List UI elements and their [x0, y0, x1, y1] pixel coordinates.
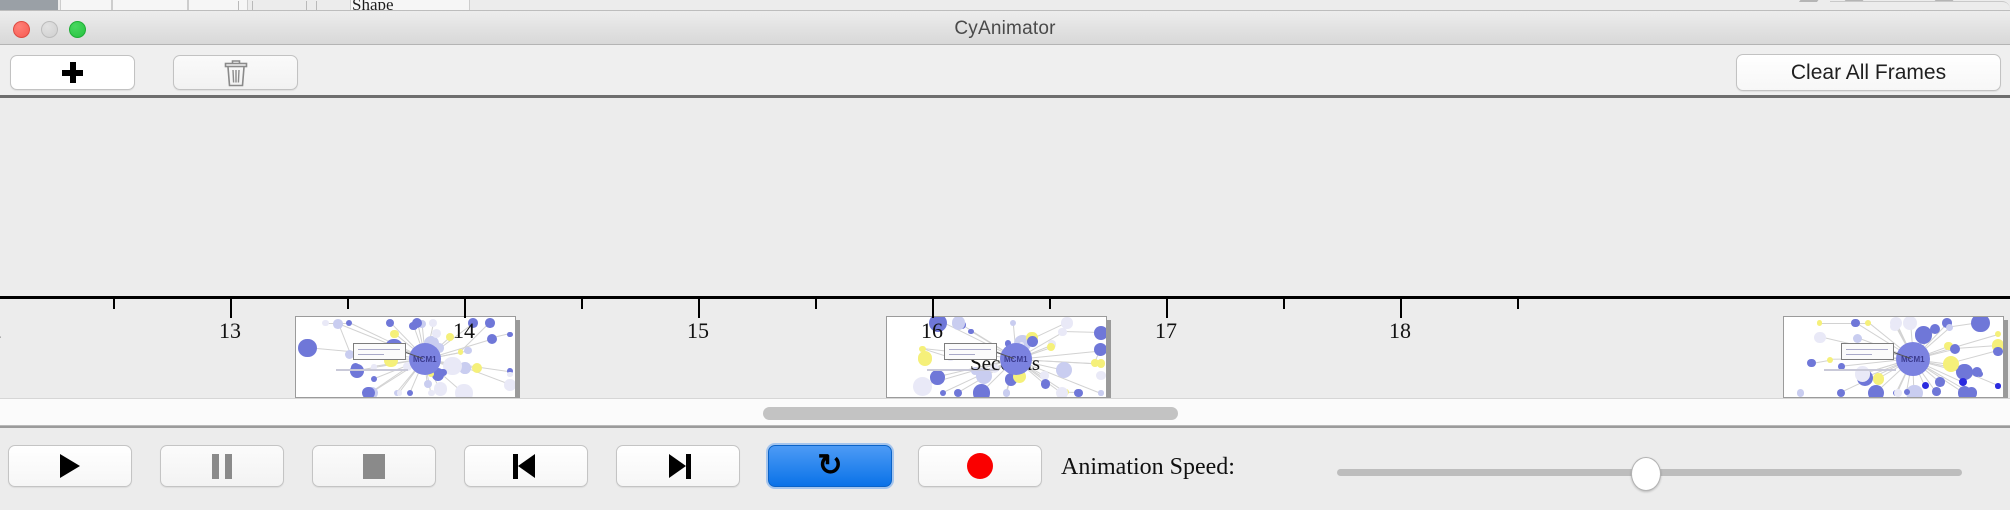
axis-tick-major: [932, 299, 934, 318]
network-node: [1797, 389, 1804, 396]
play-button[interactable]: [8, 445, 132, 487]
network-node: [1891, 319, 1899, 327]
axis-tick-minor: [1517, 299, 1519, 309]
network-node: [1995, 331, 2001, 337]
cyanimator-window: CyAnimator Clear All Frames MCM1MCM: [0, 10, 2010, 510]
network-node: [913, 377, 932, 396]
network-node: [322, 320, 329, 327]
annotation-text-line: [1846, 349, 1888, 350]
network-node: [954, 389, 962, 397]
network-node: [1047, 343, 1055, 351]
stop-icon: [363, 454, 385, 479]
timeline-scrollbar[interactable]: [0, 398, 2010, 426]
network-node: [428, 390, 435, 397]
title-bar: CyAnimator: [0, 11, 2010, 45]
network-node: [1958, 386, 1971, 398]
network-node: [1894, 389, 1902, 397]
pause-button[interactable]: [160, 445, 284, 487]
network-node: [1971, 316, 1990, 332]
network-annotation-box: [944, 343, 997, 360]
network-node: [1074, 389, 1082, 397]
annotation-text-line: [358, 349, 400, 350]
animation-speed-label: Animation Speed:: [1061, 454, 1235, 481]
axis-tick-major: [464, 299, 466, 318]
network-node: [390, 330, 398, 338]
stop-button[interactable]: [312, 445, 436, 487]
axis-tick-label: 14: [453, 318, 475, 344]
annotation-text-line: [1846, 354, 1872, 355]
network-node: [1853, 334, 1862, 343]
network-node: [1959, 378, 1967, 386]
network-node: [1817, 320, 1822, 325]
network-node: [973, 384, 991, 398]
network-node: [1061, 317, 1072, 328]
skip-back-icon: [513, 454, 539, 479]
network-node: [487, 334, 497, 344]
plus-icon: [61, 61, 84, 84]
network-node: [1995, 383, 2001, 389]
skip-forward-icon: [665, 454, 691, 479]
axis-tick-major: [1400, 299, 1402, 318]
network-node: [434, 382, 448, 396]
network-node: [455, 384, 473, 398]
next-frame-button[interactable]: [616, 445, 740, 487]
network-node: [1003, 389, 1010, 396]
loop-icon: ↻: [817, 451, 842, 481]
axis-tick-minor: [1049, 299, 1051, 309]
annotation-text-line: [949, 349, 991, 350]
network-node: [346, 320, 352, 326]
add-frame-button[interactable]: [10, 55, 135, 90]
network-node: [371, 376, 377, 382]
network-node: [507, 332, 512, 337]
network-node: [1056, 387, 1068, 398]
axis-tick-minor: [1283, 299, 1285, 309]
network-node: [1946, 324, 1953, 331]
network-node: [397, 390, 403, 396]
network-node: [424, 380, 432, 388]
axis-tick-minor: [347, 299, 349, 309]
axis-tick-minor: [113, 299, 115, 309]
prev-frame-button[interactable]: [464, 445, 588, 487]
network-node: [1010, 320, 1016, 326]
network-edge: [1820, 323, 1869, 324]
network-node: [407, 390, 413, 396]
network-node: [968, 329, 973, 334]
axis-tick-label: 17: [1155, 318, 1177, 344]
network-annotation-box: [1841, 343, 1894, 360]
play-icon: [60, 454, 80, 478]
network-node: [1932, 387, 1941, 396]
axis-tick-label: 2: [0, 318, 2, 344]
frames-toolbar: Clear All Frames: [0, 45, 2010, 98]
axis-tick-major: [1166, 299, 1168, 318]
record-button[interactable]: [918, 445, 1042, 487]
axis-tick-minor: [815, 299, 817, 309]
axis-tick-label: 18: [1389, 318, 1411, 344]
network-node: [940, 390, 946, 396]
axis-tick-minor: [581, 299, 583, 309]
axis-tick-label: 15: [687, 318, 709, 344]
axis-tick-major: [698, 299, 700, 318]
window-title: CyAnimator: [0, 18, 2010, 40]
axis-tick-label: 16: [921, 318, 943, 344]
network-node: [1935, 377, 1945, 387]
network-node: [504, 379, 516, 391]
playback-toolbar: ↻ Animation Speed:: [0, 426, 2010, 506]
network-node: [1930, 324, 1940, 334]
network-node: [333, 319, 343, 329]
network-node: [1837, 389, 1845, 397]
network-node: [485, 318, 494, 327]
annotation-text-line: [358, 354, 384, 355]
network-node: [1903, 316, 1917, 330]
timeline-panel[interactable]: MCM1MCM1MCM1 2131415161718 Seconds: [0, 98, 2010, 398]
record-icon: [967, 453, 993, 479]
axis-tick-label: 13: [219, 318, 241, 344]
axis-tick-major: [230, 299, 232, 318]
pause-icon: [212, 454, 232, 479]
animation-speed-slider-thumb[interactable]: [1631, 457, 1661, 491]
cyanimator-window-root: Shape CyAnimator: [0, 0, 2010, 510]
annotation-text-line: [949, 354, 975, 355]
clear-all-frames-button[interactable]: Clear All Frames: [1736, 54, 2001, 91]
network-node: [1814, 332, 1825, 343]
network-node: [1868, 385, 1884, 398]
network-node: [1058, 328, 1067, 337]
network-node: [1027, 336, 1038, 347]
network-node: [429, 319, 437, 327]
network-node: [952, 316, 965, 329]
network-node: [1041, 379, 1051, 389]
network-node: [1098, 390, 1103, 395]
loop-button[interactable]: ↻: [768, 445, 892, 487]
trash-icon: [223, 58, 249, 88]
network-node: [1922, 382, 1929, 389]
network-node: [362, 387, 375, 398]
network-annotation-box: [353, 343, 406, 360]
network-node: [1094, 326, 1107, 340]
scrollbar-thumb[interactable]: [763, 407, 1178, 420]
timeline-axis-line: [0, 296, 2010, 299]
delete-frame-button[interactable]: [173, 55, 298, 90]
network-node: [1851, 319, 1860, 328]
network-node: [432, 329, 441, 338]
